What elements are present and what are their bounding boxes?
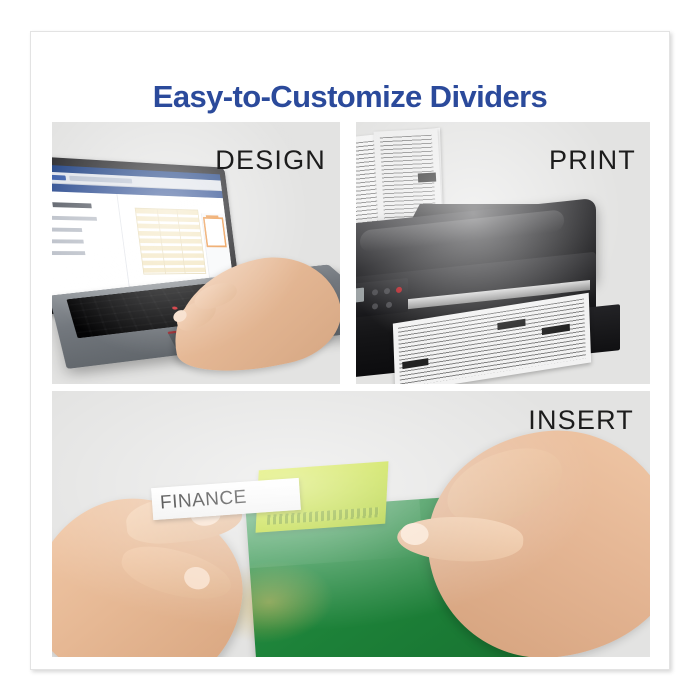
panel-print: PRINT xyxy=(356,122,650,384)
panel-label-design: DESIGN xyxy=(215,145,326,176)
page-title: Easy-to-Customize Dividers xyxy=(31,79,669,115)
printer-button xyxy=(372,289,378,296)
label-template-grid xyxy=(135,207,206,274)
printer-button xyxy=(372,303,378,310)
form-field-row xyxy=(52,239,84,243)
panel-design: DESIGN xyxy=(52,122,340,384)
label-strip-text: FINANCE xyxy=(159,487,247,515)
printer-power-button xyxy=(396,287,402,294)
printer-lcd-display xyxy=(356,288,364,305)
printer-button xyxy=(386,302,392,309)
panel-insert: FINANCE INSERT xyxy=(52,391,650,657)
form-field-row xyxy=(52,215,97,220)
panel-label-insert: INSERT xyxy=(528,405,634,436)
printer-illustration xyxy=(356,140,650,384)
index-finger xyxy=(117,538,236,608)
template-grid-column xyxy=(157,209,166,273)
product-thumbnail xyxy=(203,217,227,247)
form-heading-placeholder xyxy=(53,202,92,208)
printed-tab-mark xyxy=(418,173,436,183)
printer-button xyxy=(384,288,390,295)
product-image-card: Easy-to-Customize Dividers xyxy=(30,31,670,670)
screenshot-stage: Easy-to-Customize Dividers xyxy=(0,0,700,700)
panel-label-print: PRINT xyxy=(549,145,636,176)
form-field-row xyxy=(52,251,86,255)
template-grid-column xyxy=(177,209,186,272)
form-field-row xyxy=(52,227,83,232)
